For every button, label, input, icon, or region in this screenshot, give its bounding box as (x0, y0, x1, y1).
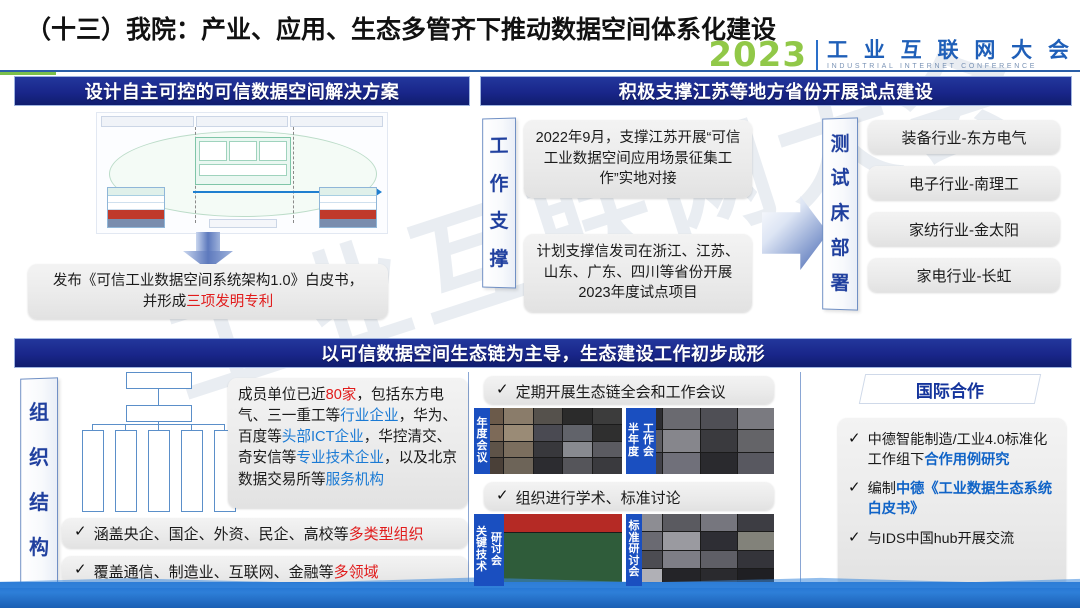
org-drop-5 (224, 424, 225, 431)
org-drop-4 (191, 424, 192, 431)
tech-char-4: 术 (476, 562, 487, 574)
meeting-check-2-text: 组织进行学术、标准讨论 (516, 487, 681, 508)
member-count-highlight: 80家 (326, 387, 357, 403)
arch-column-headers (97, 113, 387, 127)
org-drop-2 (125, 424, 126, 431)
semiannual-label-1: 半 年 度 (626, 408, 641, 474)
member-tag-tech: 专业技术企业 (296, 450, 384, 466)
whitepaper-line1: 发布《可信工业数据空间系统架构1.0》白皮书， (53, 273, 363, 289)
bottom-divider-1 (468, 372, 469, 586)
work-support-label: 工 作 支 撑 (482, 117, 516, 288)
check-icon: ✓ (74, 523, 87, 541)
support-item-1: 2022年9月，支撑江苏开展“可信工业数据空间应用场景征集工作”实地对接 (524, 120, 752, 198)
org-connector-1 (158, 389, 159, 405)
std-char-1: 标 (629, 521, 640, 533)
intl-item-2-highlight: 中德《工业数据生态系统白皮书》 (868, 481, 1052, 517)
semiannual-char-3: 度 (628, 447, 639, 459)
org-drop-3 (158, 424, 159, 431)
check-icon: ✓ (848, 430, 861, 448)
logo-year: 2023 (708, 38, 807, 72)
arch-node-left (107, 187, 165, 228)
whitepaper-line2-prefix: 并形成 (143, 294, 187, 310)
annual-meeting-photo (474, 408, 622, 474)
logo-name-cn: 工 业 互 联 网 大 会 (827, 40, 1074, 62)
tech-seminar-label-2: 研 讨 会 (489, 514, 504, 586)
org-label-char-4: 构 (29, 538, 49, 559)
org-leaf-3 (148, 430, 170, 512)
intl-item-1-highlight: 合作用例研究 (924, 452, 1009, 468)
member-tag-ict: 头部ICT企业 (282, 429, 364, 445)
testbed-label-char-4: 部 (831, 239, 850, 259)
support-label-char-3: 支 (490, 212, 509, 231)
bottom-divider-2 (800, 372, 801, 586)
annual-label-char-4: 议 (477, 453, 488, 465)
intl-item-2-text: 编制 (868, 481, 896, 497)
member-tag-service: 服务机构 (326, 472, 384, 488)
check-icon: ✓ (848, 479, 861, 497)
org-label-char-2: 织 (29, 448, 49, 469)
member-seg-1: 成员单位已近 (238, 387, 326, 403)
standard-seminar-label: 标 准 研 讨 会 (626, 514, 642, 586)
org-check-2-highlight: 多领域 (334, 564, 379, 581)
check-icon: ✓ (848, 529, 861, 547)
title-underline (0, 70, 1080, 72)
arch-bottom-bar (209, 219, 277, 228)
testbed-item-4: 家电行业-长虹 (868, 258, 1060, 292)
org-label-char-1: 组 (29, 403, 49, 424)
check-icon: ✓ (496, 487, 509, 505)
right-arrow-icon (762, 196, 828, 270)
intl-cooperation-list: ✓ 中德智能制造/工业4.0标准化工作组下合作用例研究 ✓ 编制中德《工业数据生… (838, 418, 1066, 588)
workmeeting-char-3: 会 (643, 447, 654, 459)
org-drop-1 (92, 424, 93, 431)
org-chart (72, 372, 244, 512)
intl-item-1: ✓ 中德智能制造/工业4.0标准化工作组下合作用例研究 (848, 430, 1056, 470)
tech-char-3: 技 (476, 550, 487, 562)
org-label-char-3: 结 (29, 493, 49, 514)
support-label-char-4: 撑 (490, 249, 509, 269)
org-node-second (126, 405, 192, 422)
org-leaf-2 (115, 430, 137, 512)
org-check-row-1: ✓ 涵盖央企、国企、外资、民企、高校等多类型组织 (62, 518, 468, 548)
testbed-label-char-5: 署 (831, 274, 850, 294)
annual-meeting-label: 年 度 会 议 (474, 408, 490, 474)
tech-seminar-label-1: 关 键 技 术 (474, 514, 489, 586)
annual-label-char-3: 会 (477, 441, 488, 453)
meeting-check-1-text: 定期开展生态链全会和工作会议 (516, 381, 726, 402)
check-icon: ✓ (74, 561, 87, 579)
title-accent-bar (0, 72, 56, 75)
section-header-bottom: 以可信数据空间生态链为主导，生态建设工作初步成形 (14, 338, 1072, 368)
testbed-label: 测 试 床 部 署 (822, 117, 858, 310)
member-units-callout: 成员单位已近80家，包括东方电气、三一重工等行业企业，华为、百度等头部ICT企业… (228, 378, 468, 508)
testbed-item-3: 家纺行业-金太阳 (868, 212, 1060, 246)
testbed-label-char-2: 试 (831, 169, 850, 189)
seminar-char-3: 会 (491, 556, 502, 568)
arch-core-block (195, 137, 291, 185)
org-check-1-text: 涵盖央企、国企、外资、民企、高校等 (94, 526, 349, 543)
whitepaper-callout: 发布《可信工业数据空间系统架构1.0》白皮书， 并形成三项发明专利 (28, 264, 388, 319)
testbed-label-char-3: 床 (831, 204, 850, 223)
org-leaf-1 (82, 430, 104, 512)
check-icon: ✓ (496, 381, 509, 399)
arch-node-right (319, 187, 377, 228)
testbed-item-1: 装备行业-东方电气 (868, 120, 1060, 154)
meeting-check-row-1: ✓ 定期开展生态链全会和工作会议 (484, 376, 774, 404)
std-char-5: 会 (629, 567, 640, 579)
support-label-char-2: 作 (490, 174, 509, 193)
support-item-2: 计划支撑信发司在浙江、江苏、山东、广东、四川等省份开展2023年度试点项目 (524, 234, 752, 312)
org-check-1-highlight: 多类型组织 (349, 526, 424, 543)
testbed-label-char-1: 测 (831, 134, 850, 154)
org-node-top (126, 372, 192, 389)
support-label-char-1: 工 (490, 137, 509, 157)
testbed-item-2: 电子行业-南理工 (868, 166, 1060, 200)
org-structure-label: 组 织 结 构 (20, 377, 58, 584)
logo-divider (816, 40, 818, 70)
conference-logo: 2023 工 业 互 联 网 大 会 INDUSTRIAL INTERNET C… (708, 34, 1074, 72)
whitepaper-highlight: 三项发明专利 (186, 294, 273, 310)
member-tag-industry: 行业企业 (340, 408, 398, 424)
arch-divider-right (293, 127, 294, 223)
intl-title-text: 国际合作 (916, 377, 984, 402)
section-header-left: 设计自主可控的可信数据空间解决方案 (14, 76, 470, 106)
intl-item-3-text: 与IDS中国hub开展交流 (868, 529, 1015, 549)
semiannual-label-2: 工 作 会 (641, 408, 656, 474)
intl-item-3: ✓ 与IDS中国hub开展交流 (848, 529, 1014, 549)
bottom-wave-decoration (0, 582, 1080, 608)
meeting-check-row-2: ✓ 组织进行学术、标准讨论 (484, 482, 774, 510)
intl-item-2: ✓ 编制中德《工业数据生态系统白皮书》 (848, 479, 1056, 519)
architecture-diagram (96, 112, 388, 234)
slide-root: 工业互联网大会 （十三）我院：产业、应用、生态多管齐下推动数据空间体系化建设 2… (0, 0, 1080, 608)
intl-cooperation-title: 国际合作 (859, 374, 1041, 404)
page-title: （十三）我院：产业、应用、生态多管齐下推动数据空间体系化建设 (26, 10, 776, 46)
logo-text-group: 工 业 互 联 网 大 会 INDUSTRIAL INTERNET CONFER… (827, 40, 1074, 72)
org-leaf-4 (181, 430, 203, 512)
standard-seminar-photo (626, 514, 774, 586)
section-header-right: 积极支撑江苏等地方省份开展试点建设 (480, 76, 1072, 106)
